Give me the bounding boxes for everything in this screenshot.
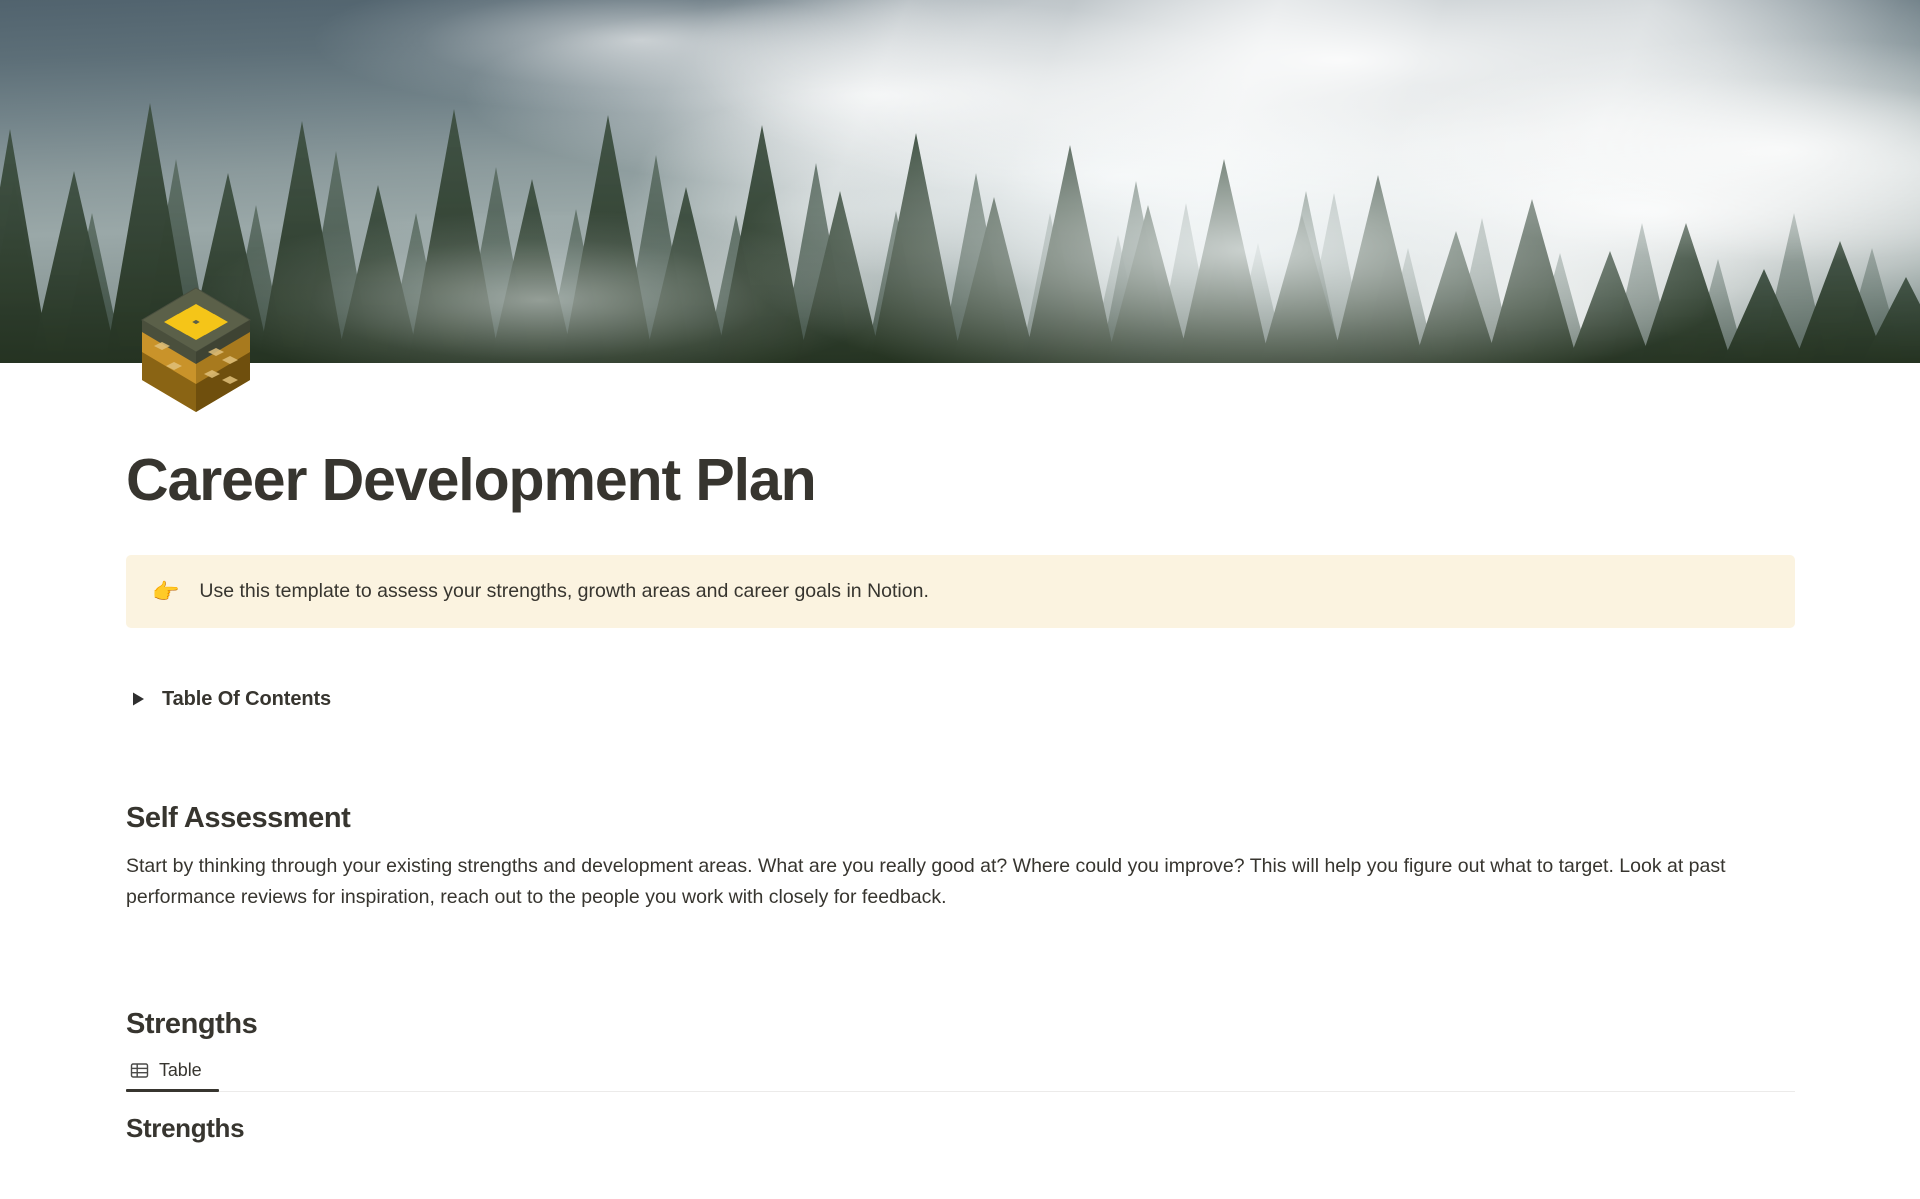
- page-title[interactable]: Career Development Plan: [126, 447, 1795, 513]
- page-cover-image[interactable]: [0, 0, 1920, 363]
- tab-table-label: Table: [159, 1060, 202, 1081]
- callout-block[interactable]: 👉 Use this template to assess your stren…: [126, 555, 1795, 628]
- cover-treeline-silhouette: [0, 63, 1920, 363]
- active-tab-underline: [126, 1089, 219, 1092]
- database-view-tabs: Table: [126, 1053, 1795, 1092]
- heading-strengths[interactable]: Strengths: [126, 1008, 1795, 1041]
- triangle-right-icon[interactable]: [132, 692, 154, 706]
- page-content: Career Development Plan 👉 Use this templ…: [0, 363, 1920, 1144]
- database-title[interactable]: Strengths: [126, 1113, 1795, 1144]
- table-grid-icon: [128, 1060, 150, 1082]
- view-tabs-divider: [126, 1091, 1795, 1092]
- isometric-block-icon[interactable]: [126, 276, 266, 416]
- pointing-right-hand-icon: 👉: [152, 581, 179, 603]
- heading-self-assessment[interactable]: Self Assessment: [126, 802, 1795, 835]
- tab-table[interactable]: Table: [126, 1053, 212, 1089]
- notion-page: Career Development Plan 👉 Use this templ…: [0, 0, 1920, 1199]
- self-assessment-paragraph[interactable]: Start by thinking through your existing …: [126, 851, 1795, 913]
- toggle-label: Table Of Contents: [162, 688, 331, 711]
- callout-text: Use this template to assess your strengt…: [199, 577, 928, 606]
- toggle-table-of-contents[interactable]: Table Of Contents: [126, 682, 1795, 716]
